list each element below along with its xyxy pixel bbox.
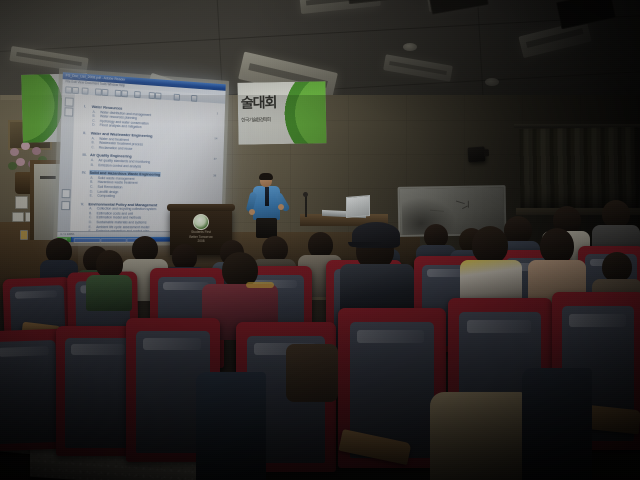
audience-member-front-bag	[286, 344, 338, 402]
university-crest-icon	[193, 214, 209, 230]
audience-member-front-legs-2	[430, 392, 526, 480]
audience-member-yellow-stripe	[460, 226, 522, 308]
laptop-screen[interactable]	[346, 195, 370, 218]
audience-member-black-cap	[340, 224, 414, 316]
audience-member-green-shirt	[86, 250, 132, 308]
audience-member-front-legs-3	[522, 368, 592, 480]
presenter	[252, 174, 282, 236]
lanyard	[246, 282, 274, 288]
lecture-hall-photo: 2 일시 술대회 한국 기술환경학회 FS_Doc_List_2008.pdf …	[0, 0, 640, 480]
audience-member-front-legs-1	[196, 372, 266, 480]
gooseneck-microphone	[305, 195, 307, 217]
cap-brim	[348, 242, 382, 247]
